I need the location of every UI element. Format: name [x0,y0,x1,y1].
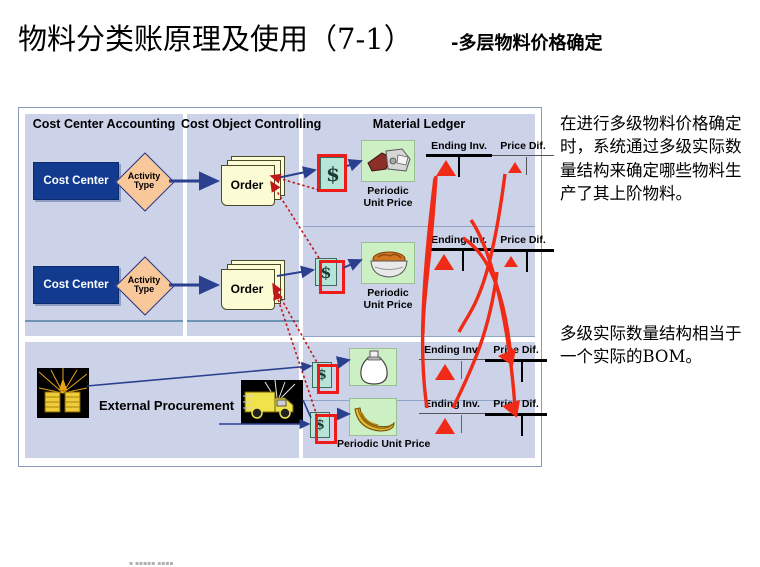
page-subtitle: -多层物料价格确定 [451,29,602,55]
money-crate-icon [37,368,89,418]
material-icon-tile-row2 [361,242,415,284]
t-account-label: Price Dif. [485,398,547,410]
material-icon-tile-row3 [349,348,397,386]
inflow-arrow-head [504,256,518,267]
t-account-label: Ending Inv. [419,344,485,356]
material-caption-line1: Periodic Unit Price [337,438,457,450]
material-caption-row2: Periodic Unit Price [357,287,419,311]
t-account-label: Ending Inv. [419,398,485,410]
note-paragraph-1: 在进行多级物料价格确定时，系统通过多级实际数量结构来确定哪些物料生产了其上阶物料… [560,112,750,206]
t-account-label: Price Dif. [492,234,554,246]
row-divider-ml-2 [303,336,535,337]
bowl-of-food-icon [362,243,415,284]
inflow-arrow-head [508,162,522,173]
page-title: 物料分类账原理及使用（7-1） [18,16,413,58]
inflow-arrow-head [436,160,456,176]
bottle-icon [350,349,397,386]
activity-type-diamond-row1[interactable]: Activity Type [115,152,173,210]
column-header-cost-center-accounting: Cost Center Accounting [25,117,183,131]
row-divider-ml-1 [303,226,535,227]
cost-center-box-row1[interactable]: Cost Center [33,162,119,200]
inflow-arrow-head [434,254,454,270]
material-ledger-diagram: Cost Center Accounting Cost Object Contr… [18,107,542,467]
t-account-label: Ending Inv. [426,140,492,152]
external-procurement-label: External Procurement [99,398,234,413]
material-caption-line1: Periodic [357,185,419,197]
t-account-label: Ending Inv. [426,234,492,246]
t-account-label: Price Dif. [492,140,554,152]
price-highlight-box-row2 [319,260,345,294]
material-icon-tile-row4 [349,398,397,436]
activity-type-label-line2: Type [134,181,154,190]
inflow-arrow-head [435,418,455,434]
delivery-truck-icon [241,380,303,424]
price-highlight-box-row3 [317,364,339,394]
material-caption-line1: Periodic [357,287,419,299]
order-document-row2[interactable]: Order [221,260,285,310]
column-header-material-ledger: Material Ledger [303,117,535,131]
inflow-arrow-head [435,364,455,380]
cost-center-box-row2[interactable]: Cost Center [33,266,119,304]
row-divider-middle [187,320,299,322]
slide-title-bar: 物料分类账原理及使用（7-1） -多层物料价格确定 [0,0,760,75]
material-caption-line2: Unit Price [357,197,419,209]
footer-fine-print: ▪ ▪▪▪▪▪ ▪▪▪▪ [129,560,279,567]
activity-type-diamond-row2[interactable]: Activity Type [115,256,173,314]
material-caption-row4: Periodic Unit Price [337,438,457,450]
t-account-label: Price Dif. [485,344,547,356]
order-label: Order [221,165,273,204]
machine-part-icon [362,141,415,182]
material-caption-row1: Periodic Unit Price [357,185,419,209]
material-icon-tile-row1 [361,140,415,182]
note-paragraph-2: 多级实际数量结构相当于一个实际的BOM。 [560,322,750,369]
price-highlight-box-row4 [315,414,337,444]
row-divider-left [25,320,183,322]
column-header-cost-object-controlling: Cost Object Controlling [181,117,305,131]
banana-icon [350,399,397,436]
material-caption-line2: Unit Price [357,299,419,311]
price-highlight-box-row1 [317,154,347,192]
activity-type-label-line2: Type [134,285,154,294]
order-label: Order [221,269,273,308]
order-document-row1[interactable]: Order [221,156,285,206]
